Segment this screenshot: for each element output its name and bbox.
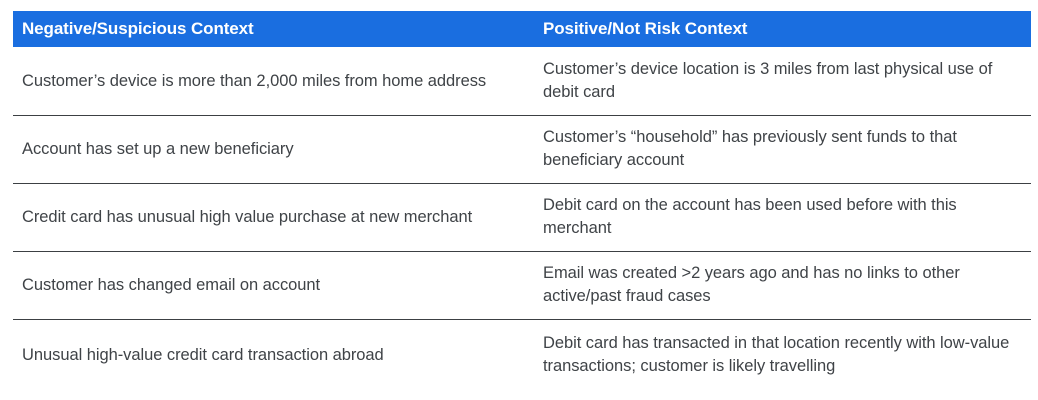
cell-positive-context: Debit card has transacted in that locati…: [523, 320, 1031, 391]
cell-positive-context: Customer’s “household” has previously se…: [523, 116, 1031, 184]
column-header-negative-suspicious-context: Negative/Suspicious Context: [13, 11, 523, 47]
table-row: Unusual high-value credit card transacti…: [13, 320, 1031, 391]
cell-negative-context: Customer has changed email on account: [13, 252, 523, 320]
cell-negative-context: Account has set up a new beneficiary: [13, 116, 523, 184]
cell-negative-context: Customer’s device is more than 2,000 mil…: [13, 47, 523, 116]
cell-negative-context: Unusual high-value credit card transacti…: [13, 320, 523, 391]
table-body: Customer’s device is more than 2,000 mil…: [13, 47, 1031, 390]
table-header: Negative/Suspicious Context Positive/Not…: [13, 11, 1031, 47]
table-row: Credit card has unusual high value purch…: [13, 184, 1031, 252]
column-header-positive-not-risk-context: Positive/Not Risk Context: [523, 11, 1031, 47]
context-comparison-table: Negative/Suspicious Context Positive/Not…: [13, 11, 1031, 390]
table-row: Account has set up a new beneficiary Cus…: [13, 116, 1031, 184]
cell-positive-context: Debit card on the account has been used …: [523, 184, 1031, 252]
cell-negative-context: Credit card has unusual high value purch…: [13, 184, 523, 252]
table-row: Customer’s device is more than 2,000 mil…: [13, 47, 1031, 116]
context-comparison-table-container: Negative/Suspicious Context Positive/Not…: [13, 11, 1031, 390]
cell-positive-context: Customer’s device location is 3 miles fr…: [523, 47, 1031, 116]
table-header-row: Negative/Suspicious Context Positive/Not…: [13, 11, 1031, 47]
table-row: Customer has changed email on account Em…: [13, 252, 1031, 320]
cell-positive-context: Email was created >2 years ago and has n…: [523, 252, 1031, 320]
